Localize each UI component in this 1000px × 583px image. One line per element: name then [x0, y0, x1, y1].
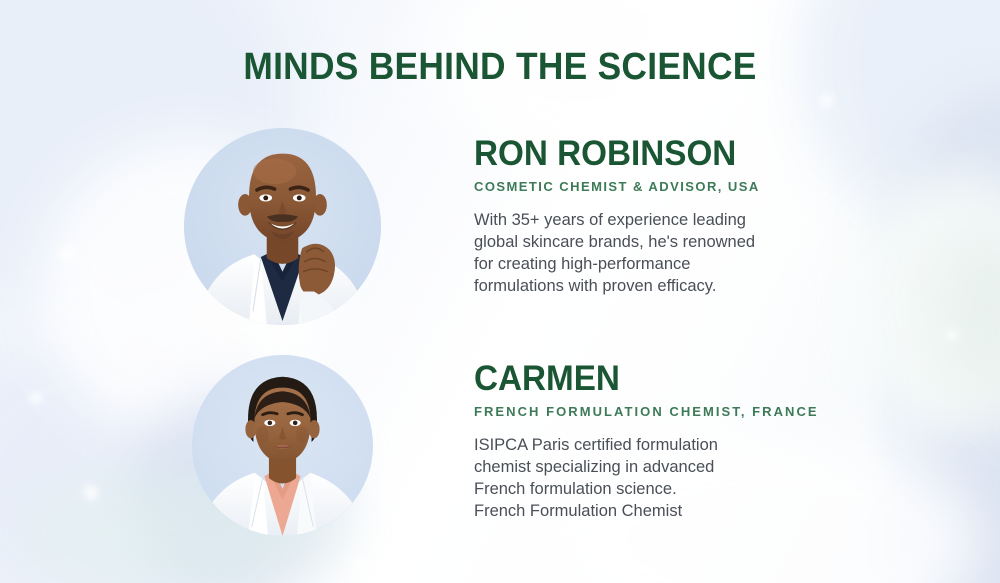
bio-card-carmen: CARMEN FRENCH FORMULATION CHEMIST, FRANC…: [192, 355, 819, 536]
background-blob: [905, 90, 1000, 320]
bio-text-carmen: CARMEN FRENCH FORMULATION CHEMIST, FRANC…: [474, 355, 819, 523]
person-description: ISIPCA Paris certified formulation chemi…: [474, 435, 819, 523]
description-line: for creating high-performance: [474, 254, 760, 276]
background-blob: [800, 0, 1000, 260]
background-speck: [820, 94, 833, 107]
description-line: ISIPCA Paris certified formulation: [474, 435, 819, 457]
background-speck: [30, 392, 42, 404]
banner-headline: MINDS BEHIND THE SCIENCE: [35, 48, 965, 86]
description-line: chemist specializing in advanced: [474, 457, 819, 479]
description-line: With 35+ years of experience leading: [474, 210, 760, 232]
background-speck: [60, 246, 76, 262]
background-speck: [108, 300, 118, 310]
description-line: French formulation science.: [474, 479, 819, 501]
background-speck: [700, 18, 712, 30]
person-role: COSMETIC CHEMIST & ADVISOR, USA: [474, 180, 760, 193]
background-speck: [622, 540, 632, 550]
background-blob: [850, 170, 1000, 430]
description-line: global skincare brands, he's renowned: [474, 232, 760, 254]
description-line: French Formulation Chemist: [474, 501, 819, 523]
description-line: formulations with proven efficacy.: [474, 276, 760, 298]
avatar-ron-robinson: [184, 128, 381, 325]
bio-text-ron-robinson: RON ROBINSON COSMETIC CHEMIST & ADVISOR,…: [474, 128, 760, 298]
avatar-carmen: [192, 355, 373, 536]
background-speck: [946, 330, 957, 341]
person-name: CARMEN: [474, 361, 801, 396]
person-name: RON ROBINSON: [474, 136, 745, 171]
background-right-band: [884, 0, 1000, 583]
person-role: FRENCH FORMULATION CHEMIST, FRANCE: [474, 405, 819, 418]
background-speck: [84, 486, 98, 500]
background-blob: [900, 390, 1000, 583]
person-description: With 35+ years of experience leading glo…: [474, 210, 760, 298]
bio-card-ron-robinson: RON ROBINSON COSMETIC CHEMIST & ADVISOR,…: [184, 128, 760, 325]
background-speck: [352, 556, 364, 568]
background-blob: [930, 230, 1000, 410]
minds-behind-the-science-banner: MINDS BEHIND THE SCIENCE: [0, 0, 1000, 583]
